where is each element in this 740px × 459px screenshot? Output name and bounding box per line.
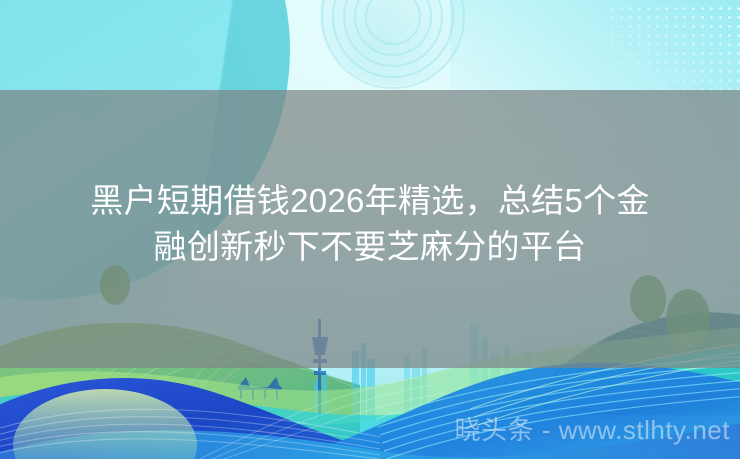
landscape-illustration [0, 259, 740, 459]
decorative-concentric-arcs [318, 0, 468, 92]
title-line-1: 黑户短期借钱2026年精选，总结5个金 [18, 178, 722, 224]
title-line-2: 融创新秒下不要芝麻分的平台 [18, 224, 722, 270]
page-title: 黑户短期借钱2026年精选，总结5个金 融创新秒下不要芝麻分的平台 [0, 178, 740, 270]
article-cover-banner: 黑户短期借钱2026年精选，总结5个金 融创新秒下不要芝麻分的平台 晓头条 - … [0, 0, 740, 459]
decorative-dot-matrix [608, 4, 740, 168]
